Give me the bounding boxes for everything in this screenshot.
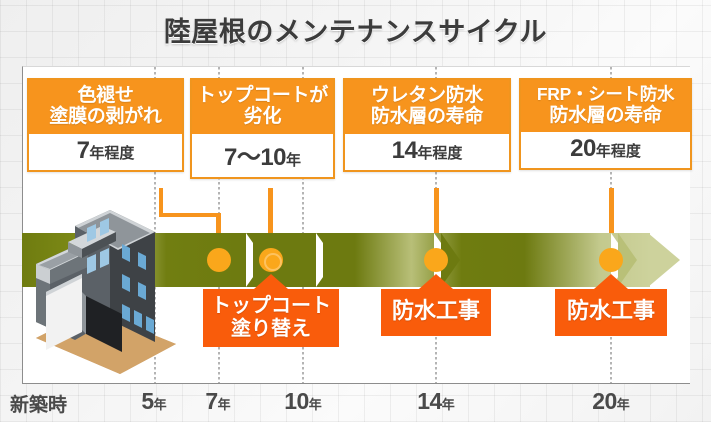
card-header: ウレタン防水 防水層の寿命 <box>345 80 509 134</box>
card-value: 20年程度 <box>521 132 690 168</box>
axis-tick-unit: 年 <box>442 397 455 412</box>
marker-dot-14y <box>424 248 448 272</box>
card-value-number: 7〜10 <box>224 144 286 171</box>
card-header-line1: 色褪せ <box>31 85 180 106</box>
lifespan-card-fading-paint: 色褪せ 塗膜の剥がれ 7年程度 <box>27 78 184 172</box>
axis-label-origin: 新築時 <box>10 390 67 417</box>
action-label-line2: 塗り替え <box>203 318 339 341</box>
lifespan-card-frp-sheet: FRP・シート防水 防水層の寿命 20年程度 <box>519 78 692 170</box>
axis-tick-unit: 年 <box>154 397 167 412</box>
action-label-line1: 防水工事 <box>381 298 491 323</box>
card-header-line2: 防水層の寿命 <box>347 106 507 127</box>
axis-tick-unit: 年 <box>617 397 630 412</box>
card-header-line1: ウレタン防水 <box>347 85 507 106</box>
axis-tick-number: 5 <box>141 388 153 414</box>
card-value-number: 14 <box>392 137 418 164</box>
card-value-number: 7 <box>77 137 90 164</box>
callout-notch-icon <box>254 274 288 289</box>
lifespan-card-topcoat-degradation: トップコートが 劣化 7〜10年 <box>190 78 335 179</box>
action-box-waterproofing-14y: 防水工事 <box>381 289 491 336</box>
axis-baseline <box>22 383 690 384</box>
card-header: FRP・シート防水 防水層の寿命 <box>521 80 690 132</box>
action-label-line1: トップコート <box>203 295 339 318</box>
card-value: 14年程度 <box>345 134 509 170</box>
card-header: トップコートが 劣化 <box>192 80 333 134</box>
marker-dot-7y <box>207 248 231 272</box>
card-header-line2: 防水層の寿命 <box>523 105 688 126</box>
axis-tick-number: 7 <box>205 388 217 414</box>
card-header-line2: 塗膜の剥がれ <box>31 106 180 127</box>
card-value: 7〜10年 <box>192 134 333 177</box>
marker-dot-20y <box>599 248 623 272</box>
axis-tick-unit: 年 <box>309 397 322 412</box>
axis-label-5y: 5年 <box>141 388 166 415</box>
callout-notch-icon <box>419 274 453 289</box>
card-value-unit: 年程度 <box>417 145 462 162</box>
card-value-number: 20 <box>570 135 596 162</box>
card-header: 色褪せ 塗膜の剥がれ <box>29 80 182 134</box>
axis-tick-number: 14 <box>417 388 442 414</box>
infographic-root: 陸屋根のメンテナンスサイクル 色褪せ 塗膜の剥がれ 7年程度 トップコートが 劣… <box>0 0 711 422</box>
page-title: 陸屋根のメンテナンスサイクル <box>0 10 711 49</box>
action-box-waterproofing-20y: 防水工事 <box>555 289 667 336</box>
card-header-line2: 劣化 <box>194 106 331 127</box>
timeline-chevron-2-fill <box>323 233 342 287</box>
action-label-line1: 防水工事 <box>555 298 667 323</box>
building-illustration-icon <box>30 192 180 377</box>
card-value-unit: 年程度 <box>596 143 641 160</box>
marker-dot-topcoat <box>259 248 283 272</box>
card-header-line1: トップコートが <box>194 85 331 106</box>
card-value-unit: 年程度 <box>89 145 134 162</box>
axis-label-7y: 7年 <box>205 388 230 415</box>
card-value: 7年程度 <box>29 134 182 170</box>
axis-tick-number: 10 <box>284 388 309 414</box>
axis-tick-number: 20 <box>592 388 617 414</box>
card-header-line1: FRP・シート防水 <box>523 85 688 105</box>
timeline-arrowhead <box>648 233 680 287</box>
axis-label-10y: 10年 <box>284 388 322 415</box>
axis-label-14y: 14年 <box>417 388 455 415</box>
axis-tick-unit: 年 <box>218 397 231 412</box>
action-box-topcoat-recoat: トップコート 塗り替え <box>203 289 339 347</box>
callout-notch-icon <box>594 274 628 289</box>
axis-label-20y: 20年 <box>592 388 630 415</box>
card-value-unit: 年 <box>286 152 301 169</box>
lifespan-card-urethane: ウレタン防水 防水層の寿命 14年程度 <box>343 78 511 172</box>
